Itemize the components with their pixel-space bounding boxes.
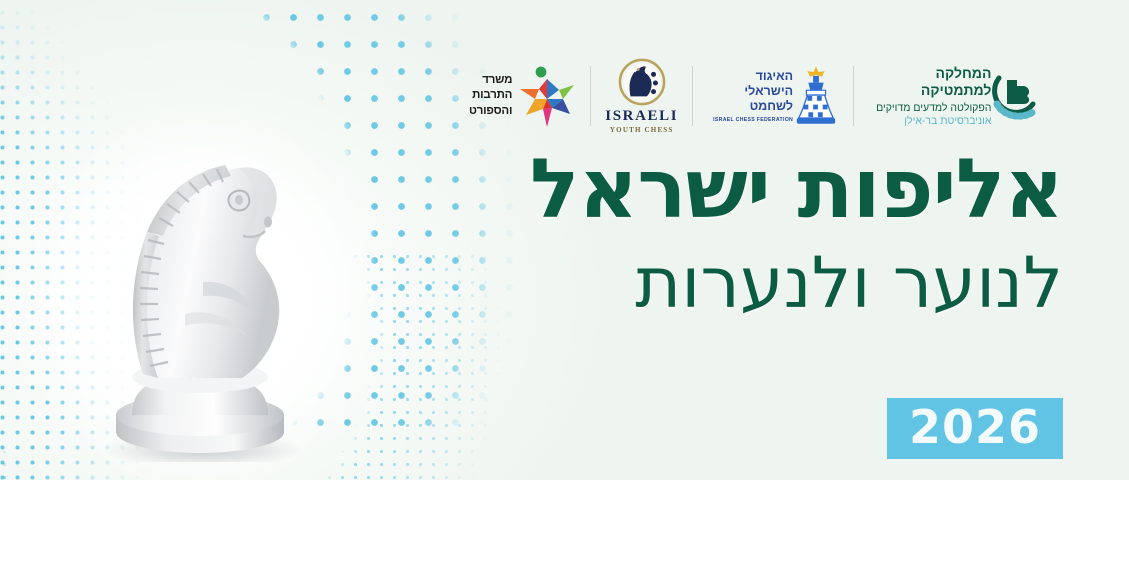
knight-emblem-icon: [614, 58, 670, 106]
championship-banner: משרד התרבות והספורט: [0, 0, 1129, 480]
year-badge: 2026: [887, 398, 1063, 459]
iyc-subtitle: YOUTH CHESS: [610, 126, 674, 134]
bar-ilan-university: אוניברסיטת בר-אילן: [876, 115, 991, 127]
headline-sub: לנוער ולנערות: [530, 246, 1063, 322]
banner-page: משרד התרבות והספורט: [0, 0, 1129, 577]
partner-logos-strip: משרד התרבות והספורט: [455, 52, 1055, 140]
year-badge-label: 2026: [909, 404, 1041, 450]
logo-israel-chess-federation: האיגוד הישראלי לשחמט ISRAEL CHESS FEDERA…: [693, 58, 853, 134]
federation-line-1: האיגוד: [713, 69, 793, 84]
logo-bar-ilan-mathematics: המחלקה למתמטיקה הפקולטה למדעים מדויקים א…: [854, 58, 1055, 134]
logo-ministry-of-culture-and-sport: משרד התרבות והספורט: [455, 58, 590, 134]
ministry-line-2: התרבות: [469, 88, 512, 103]
headline-main: אליפות ישראל: [530, 150, 1063, 230]
bar-ilan-line-1: המחלקה: [876, 65, 991, 82]
bar-ilan-line-2: למתמטיקה: [876, 82, 991, 99]
king-piece-icon: [793, 64, 839, 128]
federation-line-2: הישראלי: [713, 84, 793, 99]
logo-israeli-youth-chess: ISRAELI YOUTH CHESS: [591, 58, 692, 134]
federation-line-3: לשחמט: [713, 99, 793, 114]
ministry-logo-text: משרד התרבות והספורט: [469, 73, 512, 119]
knight-icon: [85, 132, 315, 462]
ministry-line-1: משרד: [469, 73, 512, 88]
iyc-title: ISRAELI: [605, 108, 678, 125]
chess-knight-illustration: [85, 132, 315, 462]
colorful-star-icon: [518, 65, 576, 127]
headline-block: אליפות ישראל לנוער ולנערות: [530, 150, 1063, 322]
ministry-line-3: והספורט: [469, 104, 512, 119]
bar-ilan-emblem-icon: [991, 70, 1041, 122]
federation-english-name: ISRAEL CHESS FEDERATION: [713, 117, 793, 123]
bar-ilan-faculty: הפקולטה למדעים מדויקים: [876, 102, 991, 114]
